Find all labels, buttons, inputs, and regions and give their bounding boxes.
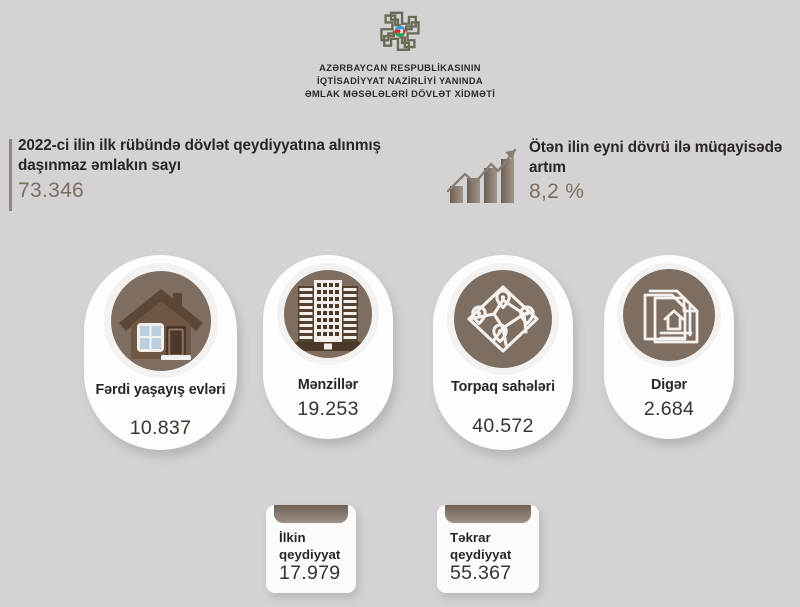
- org-name-line-1: AZƏRBAYCAN RESPUBLİKASININ: [0, 62, 800, 75]
- growth-stat: Ötən ilin eyni dövrü ilə müqayisədə artı…: [445, 134, 785, 204]
- card-label-individual-houses: Fərdi yaşayış evləri: [84, 382, 237, 400]
- box-initial-registration[interactable]: İlkin qeydiyyat 17.979: [266, 505, 356, 593]
- card-value-apartments: 19.253: [263, 398, 393, 421]
- org-name-line-2: İQTİSADİYYAT NAZİRLİYİ YANINDA: [0, 75, 800, 88]
- card-land-plots[interactable]: Torpaq sahələri 40.572: [433, 255, 573, 450]
- page-header: AZƏRBAYCAN RESPUBLİKASININ İQTİSADİYYAT …: [0, 8, 800, 100]
- left-accent-bar: [9, 139, 12, 211]
- org-name-line-3: ƏMLAK MƏSƏLƏLƏRİ DÖVLƏT XİDMƏTİ: [0, 88, 800, 101]
- box-label-initial-registration: İlkin qeydiyyat: [279, 529, 356, 564]
- growth-stat-value: 8,2 %: [529, 180, 785, 204]
- box-value-repeat-registration: 55.367: [450, 562, 511, 585]
- total-registrations-value: 73.346: [18, 179, 438, 203]
- total-registrations-stat: 2022-ci ilin ilk rübündə dövlət qeydiyya…: [18, 136, 438, 203]
- house-icon-circle: [111, 271, 211, 371]
- box-top-bar: [274, 505, 348, 523]
- card-other[interactable]: Digər 2.684: [604, 255, 734, 439]
- land-plots-icon-circle: [454, 270, 552, 368]
- total-registrations-title: 2022-ci ilin ilk rübündə dövlət qeydiyya…: [18, 136, 438, 176]
- card-label-land-plots: Torpaq sahələri: [433, 379, 573, 397]
- box-top-bar: [445, 505, 531, 523]
- house-icon: [111, 271, 211, 371]
- documents-stack-icon: [623, 269, 715, 361]
- azerbaijan-state-service-pinwheel-logo: [365, 8, 435, 56]
- card-value-individual-houses: 10.837: [84, 417, 237, 440]
- apartment-building-icon: [284, 270, 372, 358]
- documents-icon-circle: [623, 269, 715, 361]
- card-label-other: Digər: [604, 377, 734, 395]
- organization-name: AZƏRBAYCAN RESPUBLİKASININ İQTİSADİYYAT …: [0, 62, 800, 100]
- box-value-initial-registration: 17.979: [279, 562, 340, 585]
- box-label-repeat-registration: Təkrar qeydiyyat: [450, 529, 539, 564]
- card-value-other: 2.684: [604, 398, 734, 421]
- box-repeat-registration[interactable]: Təkrar qeydiyyat 55.367: [437, 505, 539, 593]
- card-label-apartments: Mənzillər: [263, 377, 393, 395]
- land-plots-map-icon: [454, 270, 552, 368]
- category-cards: Fərdi yaşayış evləri 10.837: [0, 252, 800, 467]
- card-individual-houses[interactable]: Fərdi yaşayış evləri 10.837: [84, 255, 237, 450]
- growth-bar-chart-arrow-icon: [445, 142, 523, 204]
- growth-stat-title: Ötən ilin eyni dövrü ilə müqayisədə artı…: [529, 138, 785, 178]
- apartment-building-icon-circle: [284, 270, 372, 358]
- card-apartments[interactable]: Mənzillər 19.253: [263, 255, 393, 439]
- azerbaijan-flag-emblem-icon: [395, 26, 405, 37]
- card-value-land-plots: 40.572: [433, 415, 573, 438]
